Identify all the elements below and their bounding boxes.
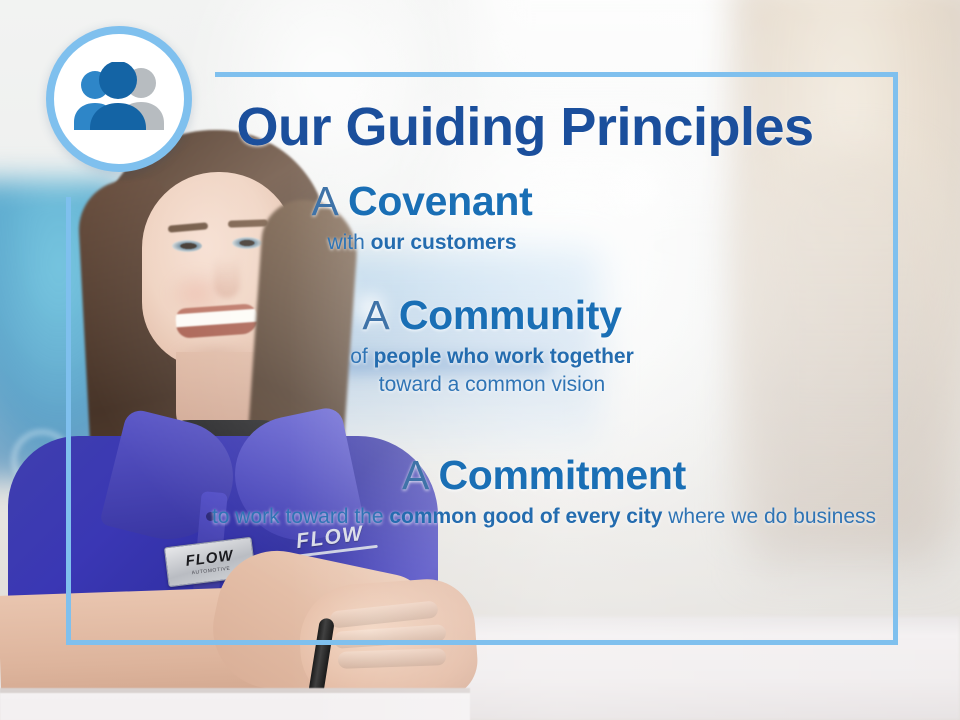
table-top-foreground <box>0 688 470 720</box>
principle-community: A Community of people who work together … <box>76 294 908 399</box>
principle-commitment-lead: A Commitment <box>128 454 960 497</box>
principle-community-detail-pre: of <box>350 345 373 368</box>
banner-canvas: FLOW AUTOMOTIVE FLOW <box>0 0 960 720</box>
principle-commitment-detail-post: where we do business <box>662 505 876 528</box>
principle-commitment-detail-bold: common good of every city <box>389 505 662 528</box>
principle-covenant-article: A <box>312 178 337 224</box>
principle-community-detail-line2: toward a common vision <box>379 373 605 396</box>
principle-covenant-detail-pre: with <box>327 231 370 254</box>
page-title: Our Guiding Principles <box>66 100 898 154</box>
principle-covenant: A Covenant with our customers <box>6 180 838 257</box>
principle-commitment: A Commitment to work toward the common g… <box>128 454 960 532</box>
principle-community-lead: A Community <box>76 294 908 337</box>
principle-covenant-lead: A Covenant <box>6 180 838 223</box>
principle-commitment-article: A <box>402 452 427 498</box>
principle-commitment-keyword: Commitment <box>438 452 686 498</box>
principle-covenant-detail: with our customers <box>6 229 838 257</box>
principle-community-detail: of people who work together toward a com… <box>76 343 908 398</box>
principle-covenant-detail-bold: our customers <box>371 231 517 254</box>
principle-community-keyword: Community <box>399 292 622 338</box>
principle-community-detail-bold: people who work together <box>374 345 634 368</box>
principle-commitment-detail: to work toward the common good of every … <box>128 503 960 532</box>
principle-covenant-keyword: Covenant <box>348 178 532 224</box>
principle-community-article: A <box>362 292 387 338</box>
text-content: Our Guiding Principles A Covenant with o… <box>66 72 898 645</box>
principle-commitment-detail-pre: to work toward the <box>212 505 389 528</box>
